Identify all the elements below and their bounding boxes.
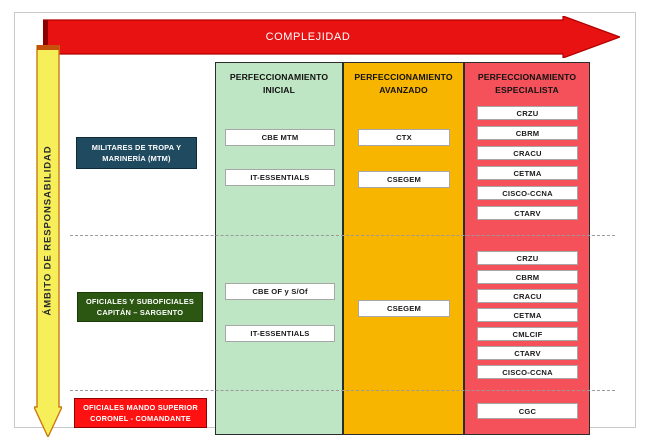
role-label-tropa-line2: MARINERÍA (MTM)	[102, 153, 170, 164]
course-pill[interactable]: CBE MTM	[225, 129, 335, 146]
column-header-inicial-line1: PERFECCIONAMIENTO	[216, 71, 342, 84]
course-pill[interactable]: CRZU	[477, 106, 578, 120]
column-perfeccionamiento-inicial: PERFECCIONAMIENTO INICIAL CBE MTM IT-ESS…	[215, 62, 343, 435]
column-header-avanzado-line1: PERFECCIONAMIENTO	[344, 71, 463, 84]
course-pill[interactable]: CSEGEM	[358, 171, 450, 188]
course-pill[interactable]: CISCO-CCNA	[477, 365, 578, 379]
column-header-especialista-line1: PERFECCIONAMIENTO	[465, 71, 589, 84]
course-pill[interactable]: CSEGEM	[358, 300, 450, 317]
course-pill[interactable]: IT-ESSENTIALS	[225, 325, 335, 342]
course-pill[interactable]: CETMA	[477, 308, 578, 322]
band-separator-oficiales-mando	[70, 390, 615, 391]
course-pill[interactable]: CTARV	[477, 346, 578, 360]
course-pill[interactable]: CMLCIF	[477, 327, 578, 341]
role-label-mando-line2: CORONEL - COMANDANTE	[90, 413, 191, 424]
course-pill[interactable]: CGC	[477, 403, 578, 419]
role-label-oficiales-line2: CAPITÁN – SARGENTO	[97, 307, 183, 318]
role-label-oficiales-suboficiales: OFICIALES Y SUBOFICIALES CAPITÁN – SARGE…	[77, 292, 203, 322]
complexity-arrow	[43, 16, 620, 58]
role-label-tropa-line1: MILITARES DE TROPA Y	[92, 142, 182, 153]
course-pill[interactable]: CRACU	[477, 146, 578, 160]
role-label-tropa-marineria: MILITARES DE TROPA Y MARINERÍA (MTM)	[76, 137, 197, 169]
responsibility-arrow	[34, 45, 62, 437]
role-label-mando-line1: OFICIALES MANDO SUPERIOR	[83, 402, 198, 413]
column-header-inicial: PERFECCIONAMIENTO INICIAL	[216, 71, 342, 97]
course-pill[interactable]: CBE OF y S/Of	[225, 283, 335, 300]
course-pill[interactable]: CBRM	[477, 126, 578, 140]
column-perfeccionamiento-avanzado: PERFECCIONAMIENTO AVANZADO CTX CSEGEM CS…	[343, 62, 464, 435]
course-pill[interactable]: CETMA	[477, 166, 578, 180]
column-header-avanzado: PERFECCIONAMIENTO AVANZADO	[344, 71, 463, 97]
course-pill[interactable]: CTX	[358, 129, 450, 146]
course-pill[interactable]: IT-ESSENTIALS	[225, 169, 335, 186]
course-pill[interactable]: CRACU	[477, 289, 578, 303]
course-pill[interactable]: CISCO-CCNA	[477, 186, 578, 200]
column-header-avanzado-line2: AVANZADO	[344, 84, 463, 97]
column-header-especialista-line2: ESPECIALISTA	[465, 84, 589, 97]
course-pill[interactable]: CBRM	[477, 270, 578, 284]
column-perfeccionamiento-especialista: PERFECCIONAMIENTO ESPECIALISTA CRZU CBRM…	[464, 62, 590, 435]
column-header-inicial-line2: INICIAL	[216, 84, 342, 97]
band-separator-tropa-oficiales	[70, 235, 615, 236]
role-label-mando-superior: OFICIALES MANDO SUPERIOR CORONEL - COMAN…	[74, 398, 207, 428]
course-pill[interactable]: CRZU	[477, 251, 578, 265]
diagram-canvas: COMPLEJIDAD ÁMBITO DE RESPONSABILIDAD PE…	[0, 0, 650, 440]
column-header-especialista: PERFECCIONAMIENTO ESPECIALISTA	[465, 71, 589, 97]
role-label-oficiales-line1: OFICIALES Y SUBOFICIALES	[86, 296, 194, 307]
course-pill[interactable]: CTARV	[477, 206, 578, 220]
